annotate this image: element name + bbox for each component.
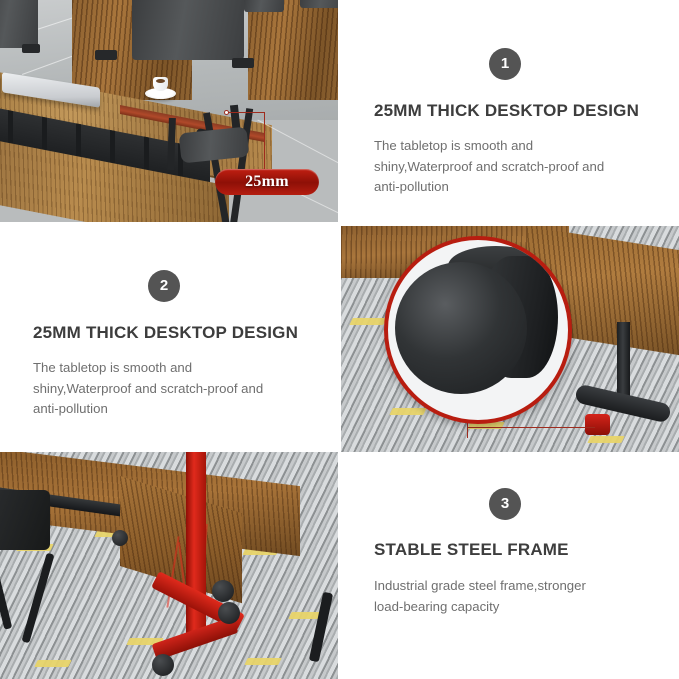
feature-headline-1: 25MM THICK DESKTOP DESIGN [374,101,639,121]
measurement-label: 25mm [215,169,319,195]
step-badge-2: 2 [148,270,180,302]
feature-description-1: The tabletop is smooth and shiny,Waterpr… [374,136,664,198]
feature-description-3: Industrial grade steel frame,stronger lo… [374,576,664,617]
feature-headline-2: 25MM THICK DESKTOP DESIGN [33,323,298,343]
photo-caster-closeup [341,226,679,452]
photo-steel-frame [0,452,338,679]
measure-line-horizontal [226,112,265,113]
infographic-sheet: 25mm 1 25MM THICK DESKTOP DESIGN The tab… [0,0,679,679]
measure-point [225,111,228,114]
photo-conference-room: 25mm [0,0,338,222]
caster-wheel [212,580,234,602]
red-caster [585,414,610,435]
table-leg-post [617,322,630,404]
chair-back [0,0,38,48]
step-badge-1: 1 [489,48,521,80]
caster-wheel-face [395,262,527,394]
caster-wheel [112,530,128,546]
caster-wheel [218,602,240,624]
chair-foot [95,50,117,60]
chair-foot [22,44,40,53]
step-badge-3: 3 [489,488,521,520]
magnifier-circle [384,236,572,424]
measurement-badge: 25mm [215,169,319,195]
measure-line-vertical [264,112,265,174]
feature-description-2: The tabletop is smooth and shiny,Waterpr… [33,358,323,420]
wood-wall-panel [248,0,338,100]
caster-wheel [152,654,174,676]
feature-text-2: 2 25MM THICK DESKTOP DESIGN The tabletop… [0,226,338,452]
chair-seat [0,490,50,550]
feature-text-1: 1 25MM THICK DESKTOP DESIGN The tabletop… [341,0,679,222]
callout-line-horizontal [467,427,595,428]
chair-back [300,0,338,8]
chair-back [244,0,284,12]
chair-foot [232,58,254,68]
feature-headline-3: STABLE STEEL FRAME [374,540,569,560]
chair-back [132,0,244,60]
feature-text-3: 3 STABLE STEEL FRAME Industrial grade st… [341,452,679,679]
coffee-cup [153,77,168,91]
